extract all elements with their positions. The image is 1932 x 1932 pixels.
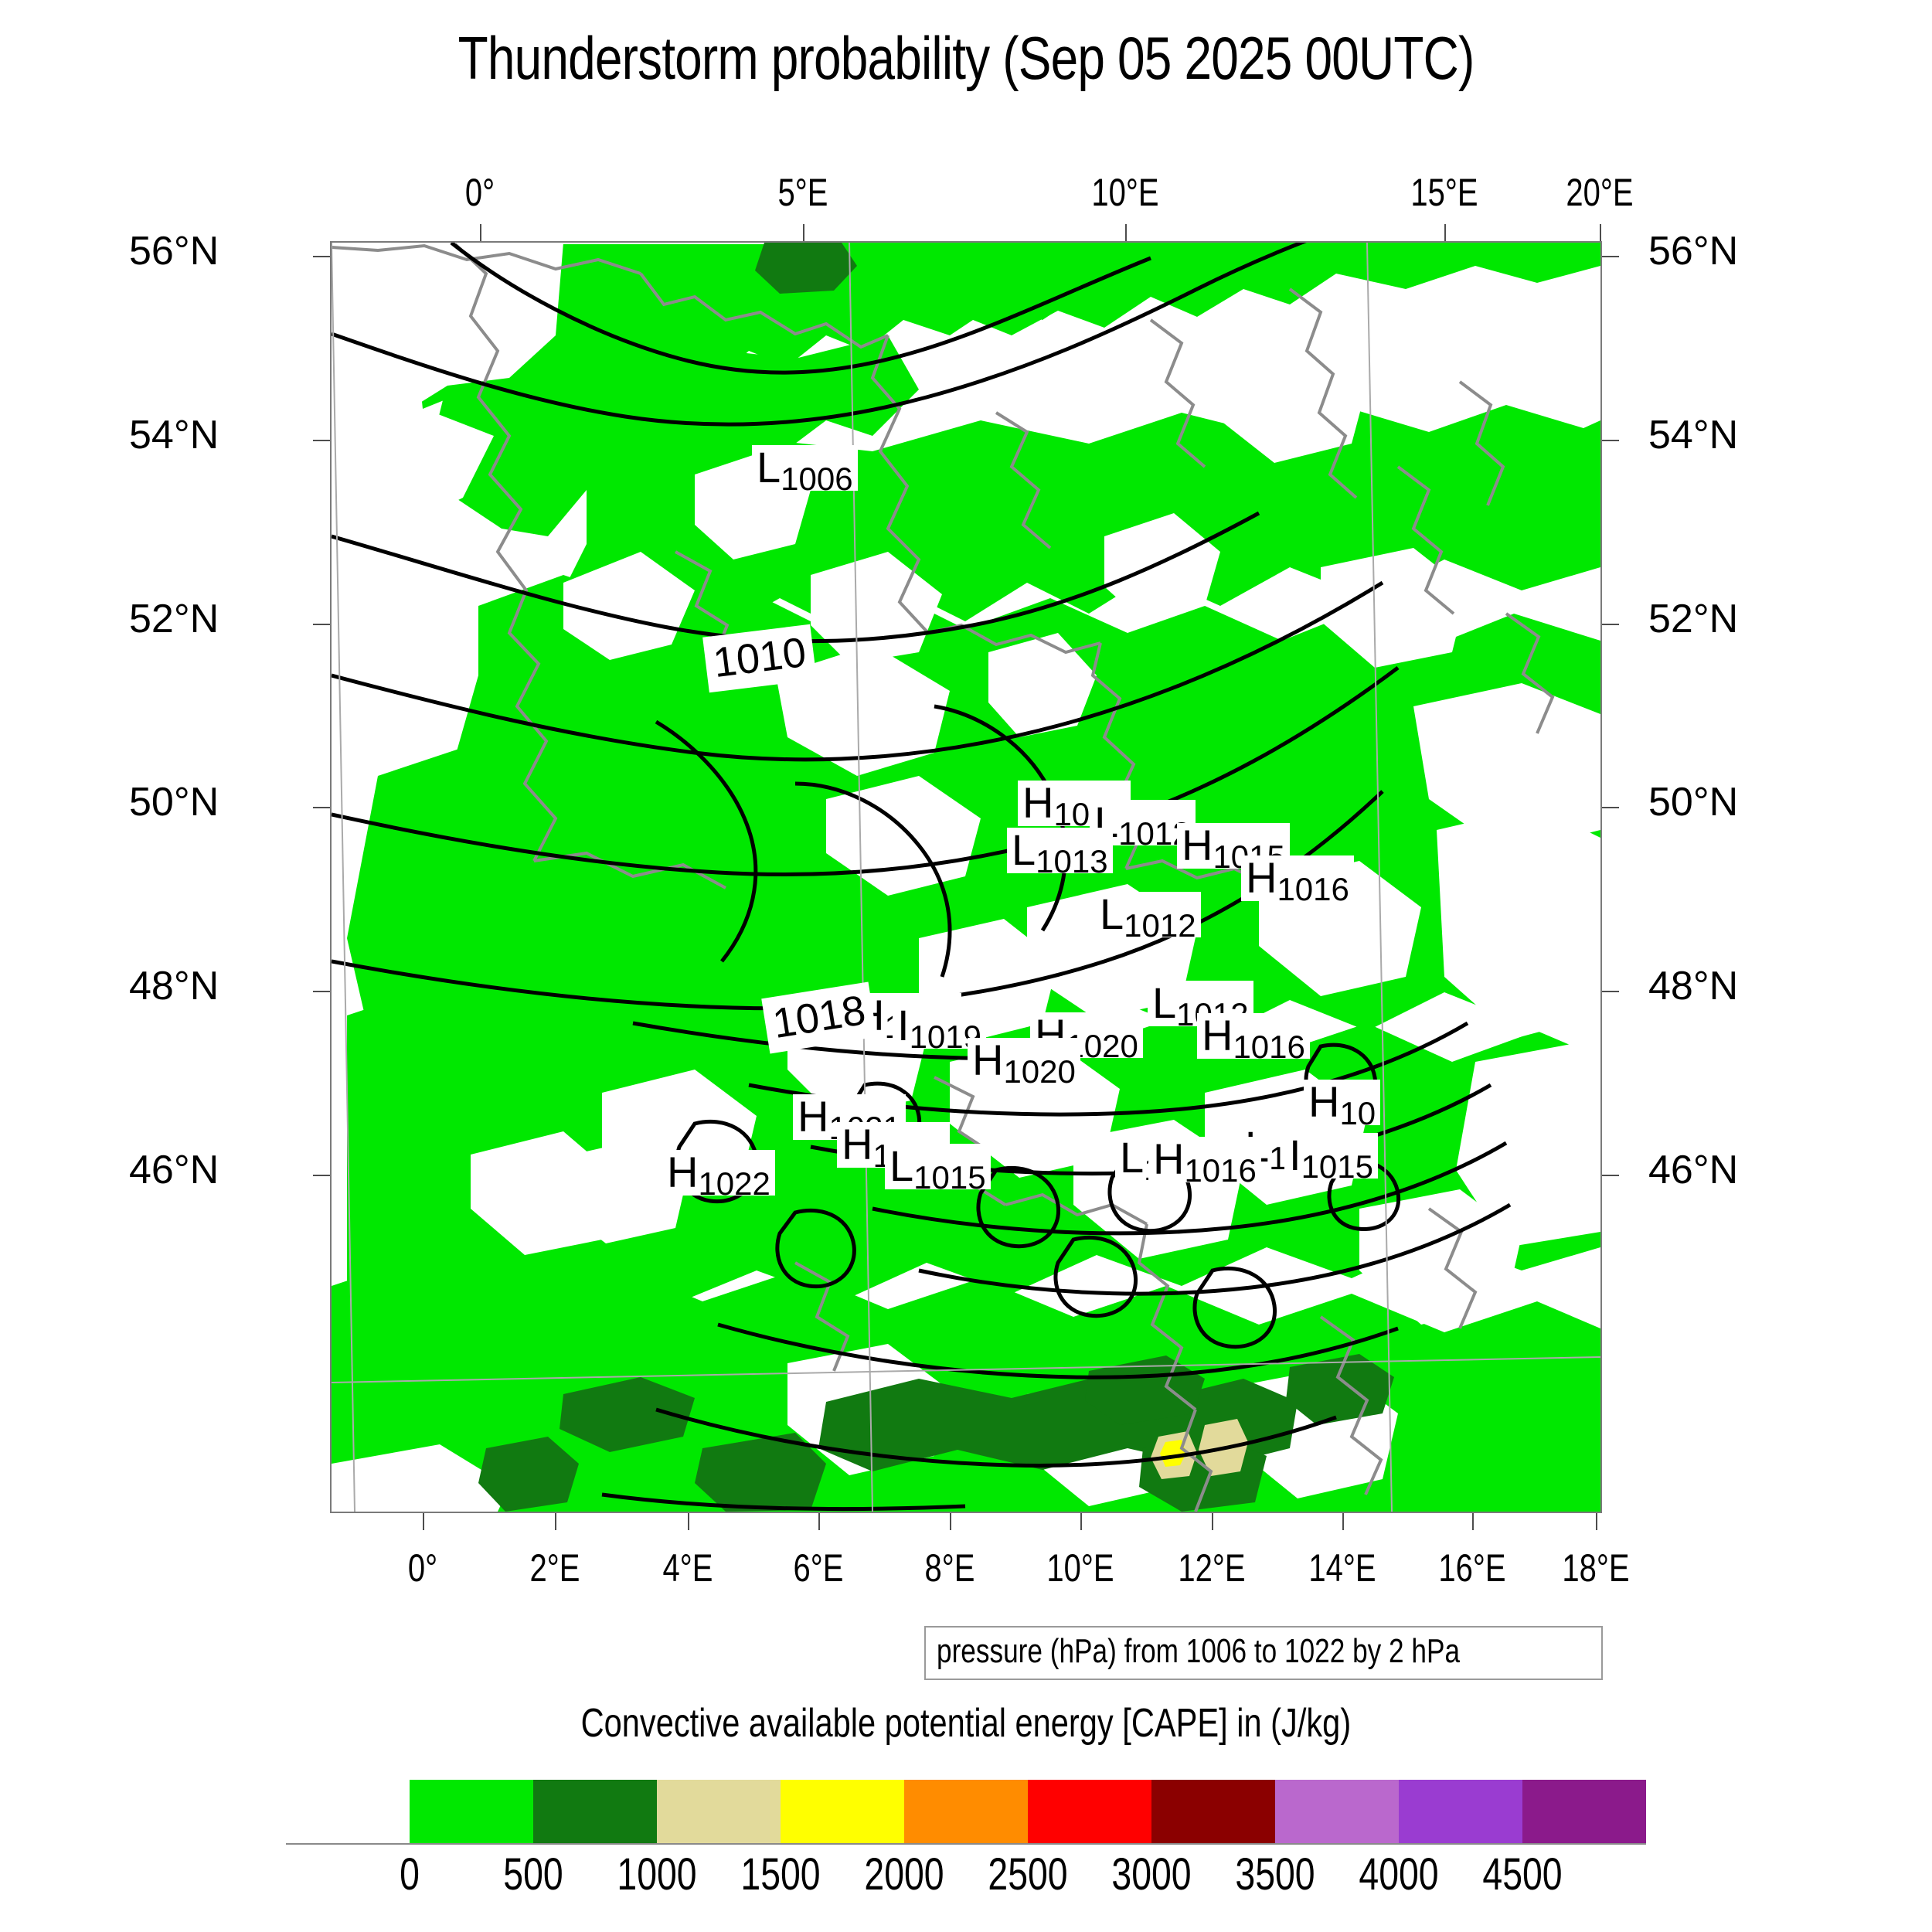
colorbar-title-text: Convective available potential energy [C…: [581, 1700, 1352, 1747]
axis-label-top-10E: 10°E: [1091, 170, 1158, 215]
axis-label-bottom-6E: 6°E: [794, 1546, 844, 1590]
colorbar-swatch-4: [781, 1780, 904, 1843]
axis-label-right-50N: 50°N: [1648, 779, 1738, 825]
pressure-centre-l-1015-20: L1015: [885, 1144, 991, 1189]
colorbar-tick-3000: 3000: [1111, 1849, 1191, 1900]
tick-right-0: [1602, 256, 1619, 257]
tick-bottom-2: [688, 1513, 689, 1530]
axis-label-left-52N: 52°N: [129, 596, 219, 642]
axis-label-bottom-10E: 10°E: [1047, 1546, 1114, 1590]
pressure-centre-value: 1016: [1184, 1152, 1256, 1189]
pressure-centre-h-1016-11: H1016: [1197, 1013, 1310, 1059]
axis-label-bottom-8E: 8°E: [924, 1546, 975, 1590]
colorbar-swatch-10: [1522, 1780, 1646, 1843]
pressure-caption-text: pressure (hPa) from 1006 to 1022 by 2 hP…: [937, 1632, 1460, 1671]
tick-right-3: [1602, 807, 1619, 808]
pressure-centre-kind: H: [798, 1092, 828, 1141]
map-canvas: [332, 243, 1600, 1512]
tick-left-5: [313, 1175, 330, 1176]
pressure-centre-kind: H: [1022, 778, 1053, 827]
pressure-centre-value: 1020: [1003, 1053, 1075, 1090]
colorbar-tick-4000: 4000: [1359, 1849, 1438, 1900]
tick-right-4: [1602, 991, 1619, 992]
pressure-centre-kind: L: [1012, 825, 1036, 874]
colorbar-tick-1000: 1000: [617, 1849, 696, 1900]
axis-label-top-15E: 15°E: [1410, 170, 1478, 215]
pressure-centre-kind: I: [897, 1001, 910, 1049]
colorbar-swatch-9: [1399, 1780, 1522, 1843]
colorbar-tick-3500: 3500: [1235, 1849, 1315, 1900]
axis-label-bottom-18E: 18°E: [1562, 1546, 1629, 1590]
axis-label-bottom-12E: 12°E: [1178, 1546, 1245, 1590]
pressure-centre-kind: H: [842, 1120, 872, 1168]
colorbar-tick-4500: 4500: [1482, 1849, 1562, 1900]
colorbar[interactable]: [286, 1780, 1646, 1845]
axis-label-top-20E: 20°E: [1566, 170, 1633, 215]
tick-left-2: [313, 624, 330, 625]
pressure-centre-kind: H: [972, 1036, 1003, 1084]
colorbar-swatch-0: [286, 1780, 410, 1843]
pressure-centre-kind: H: [667, 1148, 698, 1196]
pressure-centre-value: 1013: [1036, 843, 1107, 879]
axis-label-right-54N: 54°N: [1648, 412, 1738, 458]
pressure-centre-kind: L: [889, 1141, 913, 1190]
tick-bottom-3: [818, 1513, 820, 1530]
tick-top-4: [1600, 224, 1601, 241]
pressure-centre-l-1012-6: L1012: [1095, 892, 1201, 937]
colorbar-swatch-3: [657, 1780, 781, 1843]
axis-label-bottom-0: 0°: [408, 1546, 437, 1590]
tick-left-3: [313, 807, 330, 808]
axis-label-right-52N: 52°N: [1648, 596, 1738, 642]
axis-label-left-48N: 48°N: [129, 963, 219, 1009]
axis-label-left-54N: 54°N: [129, 412, 219, 458]
pressure-centre-kind: L: [757, 443, 781, 492]
axis-label-bottom-16E: 16°E: [1439, 1546, 1506, 1590]
pressure-centre-kind: H: [1182, 821, 1213, 869]
pressure-centre-value: 1016: [1277, 871, 1349, 907]
pressure-caption-box: pressure (hPa) from 1006 to 1022 by 2 hP…: [924, 1626, 1603, 1680]
colorbar-swatch-6: [1028, 1780, 1151, 1843]
pressure-centre-value: 1022: [698, 1165, 770, 1202]
tick-bottom-9: [1596, 1513, 1597, 1530]
axis-label-top-0: 0°: [465, 170, 495, 215]
page-title: Thunderstorm probability (Sep 05 2025 00…: [174, 23, 1758, 94]
cape-band-0-500: [332, 243, 1600, 1512]
axis-label-top-5E: 5°E: [778, 170, 828, 215]
pressure-centre-i-1015-17: I1015: [1284, 1133, 1378, 1179]
tick-bottom-6: [1212, 1513, 1213, 1530]
axis-label-bottom-4E: 4°E: [662, 1546, 713, 1590]
pressure-centre-kind: H: [1202, 1011, 1233, 1060]
colorbar-swatch-8: [1275, 1780, 1399, 1843]
pressure-centre-h-1016-19: H1016: [1148, 1137, 1261, 1182]
pressure-centre-kind: H: [1246, 853, 1277, 902]
pressure-centre-l-1006-0: L1006: [752, 445, 858, 491]
colorbar-swatch-5: [904, 1780, 1028, 1843]
pressure-centre-value: 1015: [913, 1159, 985, 1196]
axis-label-bottom-14E: 14°E: [1309, 1546, 1376, 1590]
map-plot-area: L1006H1014L1012H1015L1013H1016L1012L1012…: [330, 241, 1602, 1513]
tick-bottom-4: [950, 1513, 951, 1530]
axis-label-right-46N: 46°N: [1648, 1147, 1738, 1193]
colorbar-tick-labels: 050010001500200025003000350040004500: [286, 1849, 1646, 1903]
tick-right-1: [1602, 440, 1619, 441]
tick-bottom-7: [1342, 1513, 1344, 1530]
axis-label-left-46N: 46°N: [129, 1147, 219, 1193]
pressure-centre-h-1016-5: H1016: [1241, 855, 1354, 901]
axis-label-right-48N: 48°N: [1648, 963, 1738, 1009]
axis-label-right-56N: 56°N: [1648, 228, 1738, 274]
colorbar-swatch-2: [533, 1780, 657, 1843]
pressure-centre-value: 1015: [1301, 1148, 1373, 1185]
pressure-centre-kind: H: [1153, 1134, 1184, 1183]
colorbar-tick-2500: 2500: [988, 1849, 1067, 1900]
pressure-centre-h-1022-21: H1022: [662, 1150, 775, 1196]
pressure-centre-kind: L: [1120, 1133, 1144, 1182]
tick-left-0: [313, 256, 330, 257]
tick-top-0: [480, 224, 481, 241]
tick-bottom-8: [1472, 1513, 1474, 1530]
pressure-centre-kind: I: [1289, 1131, 1301, 1179]
colorbar-tick-0: 0: [400, 1849, 420, 1900]
pressure-centre-kind: L: [1152, 978, 1176, 1027]
pressure-centre-value: 1006: [781, 461, 852, 497]
pressure-centre-value: 1012: [1124, 907, 1196, 944]
tick-top-1: [803, 224, 804, 241]
pressure-centre-kind: H: [1308, 1077, 1339, 1126]
tick-right-2: [1602, 624, 1619, 625]
tick-left-4: [313, 991, 330, 992]
colorbar-tick-1500: 1500: [740, 1849, 820, 1900]
pressure-centre-kind: L: [1100, 889, 1124, 938]
colorbar-swatch-1: [410, 1780, 533, 1843]
tick-top-2: [1125, 224, 1127, 241]
tick-left-1: [313, 440, 330, 441]
tick-bottom-0: [423, 1513, 424, 1530]
colorbar-tick-500: 500: [503, 1849, 563, 1900]
tick-top-3: [1444, 224, 1446, 241]
pressure-centre-h-10-13: H10: [1304, 1080, 1380, 1125]
axis-label-left-56N: 56°N: [129, 228, 219, 274]
pressure-centre-h-1020-12: H1020: [968, 1038, 1080, 1083]
axis-label-bottom-2E: 2°E: [530, 1546, 580, 1590]
colorbar-swatch-7: [1151, 1780, 1275, 1843]
axis-label-left-50N: 50°N: [129, 779, 219, 825]
pressure-centre-value: 1016: [1233, 1029, 1304, 1065]
colorbar-tick-2000: 2000: [864, 1849, 944, 1900]
tick-bottom-1: [555, 1513, 556, 1530]
tick-right-5: [1602, 1175, 1619, 1176]
pressure-centre-l-1013-4: L1013: [1007, 828, 1113, 873]
colorbar-title: Convective available potential energy [C…: [0, 1700, 1932, 1747]
tick-bottom-5: [1080, 1513, 1082, 1530]
